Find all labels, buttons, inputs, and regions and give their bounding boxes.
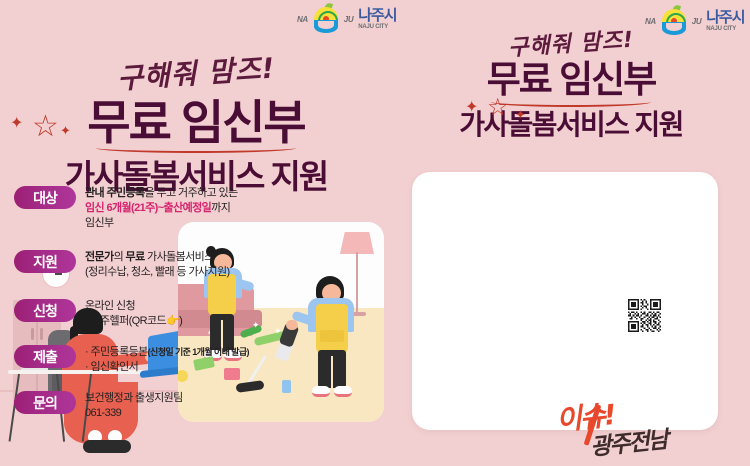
helper2-shoe-shape [334, 386, 352, 397]
headline-line1: 무료 임신부 [392, 61, 750, 100]
info-row-jechul: 제출 · 주민등록등본(신청일 기준 1개월 이내 발급)· 임신확인서 [14, 345, 249, 375]
helper2-hand-shape [286, 320, 298, 330]
qr-code[interactable] [628, 299, 661, 332]
helper2-pants-shape [318, 350, 346, 388]
badge-daesang: 대상 [14, 186, 76, 209]
logo-ju-text: JU [692, 17, 701, 26]
star-icon: ✦ [465, 100, 478, 116]
info-row-munui: 문의 보건행정과 출생지원팀061-339 [14, 391, 183, 421]
info-line: 전문가의 무료 가사돌봄서비스 [85, 250, 230, 265]
logo-name-en: NAJU CITY [358, 24, 396, 30]
info-line: · 임신확인서 [85, 360, 249, 375]
sparkle-icon: ✦ [252, 320, 260, 331]
star-icon: ☆ [487, 96, 509, 120]
info-line: 관내 주민등록을 두고 거주하고 있는 [85, 186, 238, 201]
logo-ju-text: JU [344, 15, 353, 24]
woman-shoe-shape [83, 440, 131, 453]
info-text-daesang: 관내 주민등록을 두고 거주하고 있는임신 6개월(21주)~출산예정일까지임신… [85, 186, 238, 232]
headline-line2: 가사돌봄서비스 지원 [392, 110, 750, 141]
debris-shape [282, 380, 291, 393]
badge-munui: 문의 [14, 391, 76, 414]
info-text-jiwon: 전문가의 무료 가사돌봄서비스(정리수납, 청소, 빨래 등 가사지원) [85, 250, 230, 280]
poster-canvas: NA JU 나주시 NAJU CITY NA JU 나주시 NAJU CITY … [0, 0, 750, 466]
star-icon: ✦ [60, 124, 71, 137]
info-line: (정리수납, 청소, 빨래 등 가사지원) [85, 265, 230, 280]
badge-jiwon: 지원 [14, 250, 76, 273]
info-line: 임신 6개월(21주)~출산예정일까지 [85, 201, 238, 216]
info-line: 보건행정과 출생지원팀 [85, 391, 183, 406]
headline-script: 구해줘 맘즈! [392, 26, 750, 58]
badge-jechul: 제출 [14, 345, 76, 368]
info-row-sincheong: 신청 온라인 신청- 나주헬퍼(QR코드👉) [14, 299, 182, 329]
logo-name-ko: 나주시 [706, 10, 744, 25]
headline-right: 구해줘 맘즈! 무료 임신부 가사돌봄서비스 지원 [392, 26, 750, 141]
naju-emblem-icon [311, 4, 341, 34]
logo-wordmark: 나주시 NAJU CITY [358, 8, 396, 30]
star-icon: ✦ [515, 108, 526, 121]
info-line: 061-339 [85, 406, 183, 421]
info-line: 온라인 신청 [85, 299, 182, 314]
info-card [412, 172, 718, 430]
info-line: - 나주헬퍼(QR코드👉) [85, 314, 182, 329]
helper2-apron-shape [316, 304, 348, 354]
info-line: · 주민등록등본(신청일 기준 1개월 이내 발급) [85, 345, 249, 360]
info-text-jechul: · 주민등록등본(신청일 기준 1개월 이내 발급)· 임신확인서 [85, 345, 249, 375]
sparkle-icon: ✦ [274, 326, 282, 337]
star-decoration-right: ✦ ☆ ✦ [465, 92, 535, 132]
headline-script: 구해줘 맘즈! [0, 52, 392, 92]
logo-na-text: NA [645, 17, 656, 26]
star-icon: ☆ [32, 112, 59, 142]
star-icon: ✦ [10, 116, 23, 132]
headline-underline [96, 143, 296, 153]
info-text-sincheong: 온라인 신청- 나주헬퍼(QR코드👉) [85, 299, 182, 329]
info-line: 임신부 [85, 216, 238, 231]
helper2-shoe-shape [312, 386, 330, 397]
info-text-munui: 보건행정과 출생지원팀061-339 [85, 391, 183, 421]
logo-name-ko: 나주시 [358, 8, 396, 23]
logo-na-text: NA [297, 15, 308, 24]
info-row-jiwon: 지원 전문가의 무료 가사돌봄서비스(정리수납, 청소, 빨래 등 가사지원) [14, 250, 230, 280]
helper2-apron-pocket-shape [320, 330, 344, 342]
star-decoration-left: ✦ ☆ ✦ [10, 108, 90, 154]
badge-sincheong: 신청 [14, 299, 76, 322]
info-row-daesang: 대상 관내 주민등록을 두고 거주하고 있는임신 6개월(21주)~출산예정일까… [14, 186, 238, 232]
naju-city-logo-left: NA JU 나주시 NAJU CITY [297, 4, 397, 34]
floor-lamp-icon [340, 232, 374, 254]
